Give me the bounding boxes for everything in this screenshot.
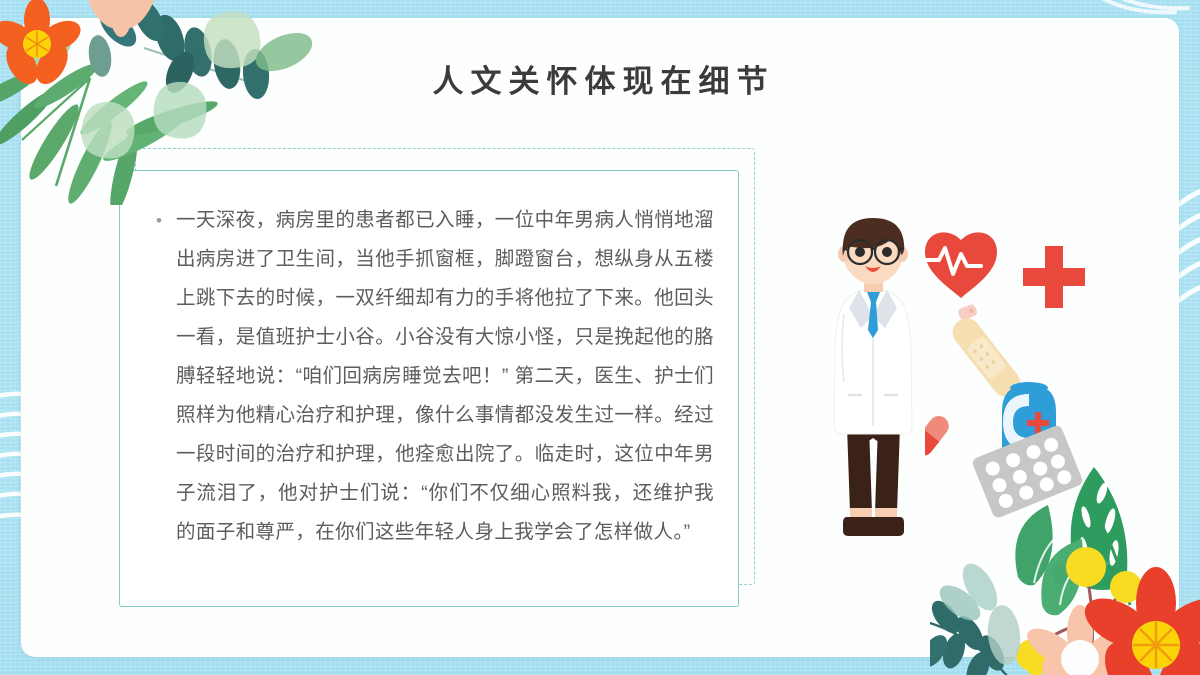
- story-body-text: 一天深夜，病房里的患者都已入睡，一位中年男病人悄悄地溜出病房进了卫生间，当他手抓…: [176, 201, 714, 552]
- slide-canvas: 人文关怀体现在细节 • 一天深夜，病房里的患者都已入睡，一位中年男病人悄悄地溜出…: [0, 0, 1200, 675]
- bullet-marker: •: [154, 201, 162, 552]
- page-title: 人文关怀体现在细节: [0, 56, 1200, 101]
- story-text-box: • 一天深夜，病房里的患者都已入睡，一位中年男病人悄悄地溜出病房进了卫生间，当他…: [119, 170, 739, 607]
- bullet-paragraph: • 一天深夜，病房里的患者都已入睡，一位中年男病人悄悄地溜出病房进了卫生间，当他…: [154, 201, 714, 552]
